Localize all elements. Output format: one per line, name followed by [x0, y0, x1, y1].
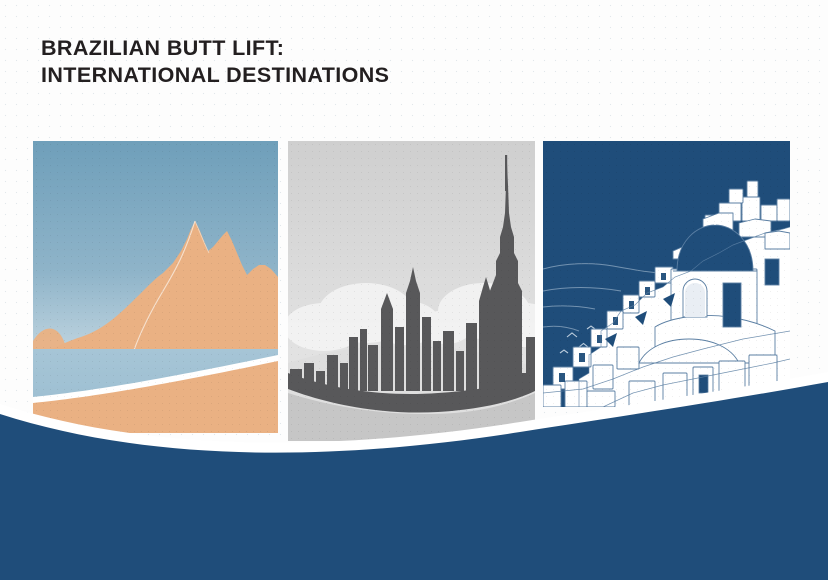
santorini-illustration [543, 141, 790, 407]
destination-image-santorini [543, 141, 790, 407]
rio-illustration [33, 141, 278, 433]
destination-image-dubai [288, 141, 535, 441]
destination-image-rio [33, 141, 278, 433]
dubai-illustration [288, 141, 535, 441]
page-title: BRAZILIAN BUTT LIFT: INTERNATIONAL DESTI… [41, 35, 389, 89]
slide-canvas: BRAZILIAN BUTT LIFT: INTERNATIONAL DESTI… [0, 0, 828, 580]
